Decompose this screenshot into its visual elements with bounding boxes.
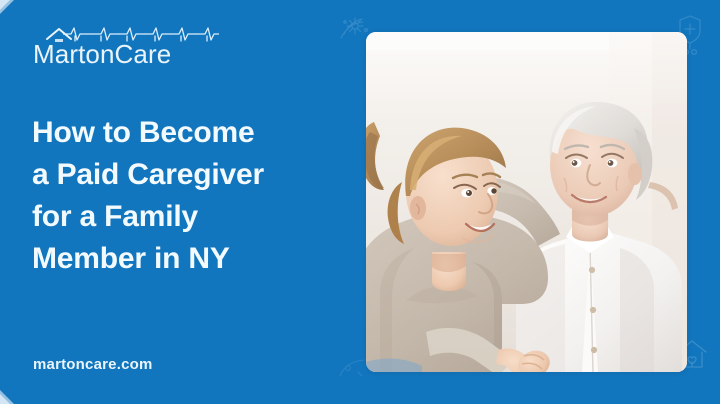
page-title: How to Become a Paid Caregiver for a Fam… xyxy=(32,112,342,280)
corner-artifact-bottom-left xyxy=(0,390,14,404)
headline-line-2: a Paid Caregiver xyxy=(32,154,342,196)
line-art-accent xyxy=(336,352,370,384)
hero-photo xyxy=(366,32,687,372)
brand-logo[interactable]: MartonCare xyxy=(33,24,233,74)
brand-wordmark: MartonCare xyxy=(33,39,171,70)
site-url-label[interactable]: martoncare.com xyxy=(33,356,153,373)
promo-banner: MartonCare How to Become a Paid Caregive… xyxy=(0,0,720,404)
headline-line-1: How to Become xyxy=(32,112,342,154)
headline-line-4: Member in NY xyxy=(32,238,342,280)
corner-artifact-top-left xyxy=(0,0,14,14)
hero-photo-illustration xyxy=(366,32,687,372)
headline-line-3: for a Family xyxy=(32,196,342,238)
